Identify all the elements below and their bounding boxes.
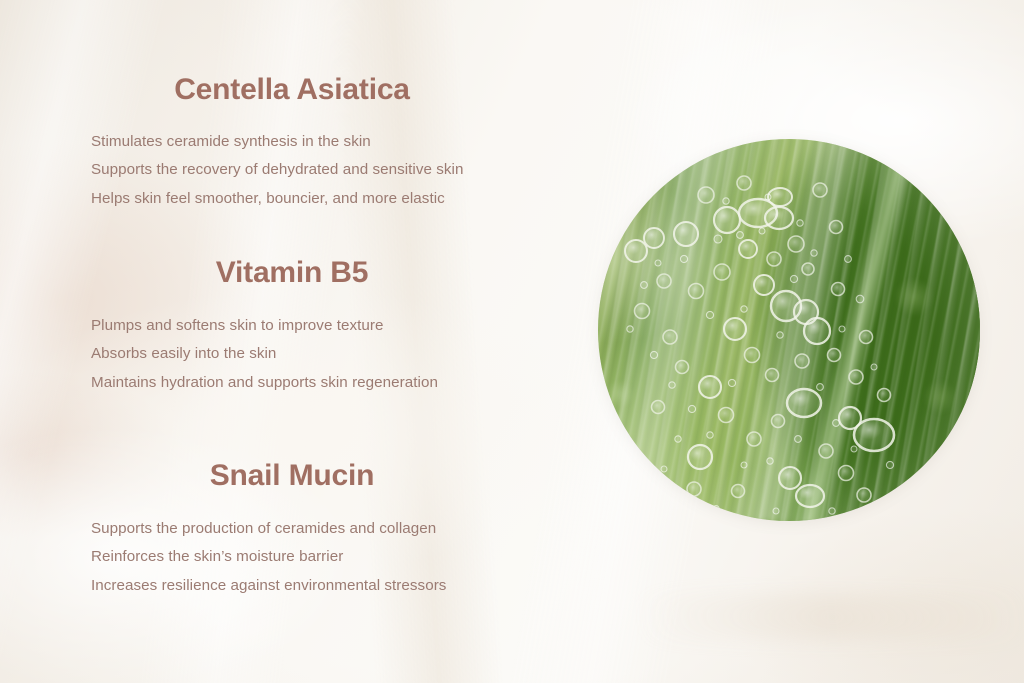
ingredient-title-text: Centella Asiatica <box>174 73 410 107</box>
background-streak <box>640 594 1024 640</box>
benefit-item: Stimulates ceramide synthesis in the ski… <box>0 128 586 157</box>
benefit-item: Absorbs easily into the skin <box>0 340 586 369</box>
ingredient-block-vitamin-b5: Vitamin B5 Plumps and softens skin to im… <box>0 256 586 397</box>
benefit-item: Supports the production of ceramides and… <box>0 515 586 544</box>
benefit-item: Helps skin feel smoother, bouncier, and … <box>0 185 586 214</box>
ingredient-benefit-list: Stimulates ceramide synthesis in the ski… <box>0 128 586 214</box>
benefit-item: Supports the recovery of dehydrated and … <box>0 156 586 185</box>
ingredient-benefit-list: Plumps and softens skin to improve textu… <box>0 312 586 398</box>
photo-soften-layer <box>598 139 980 521</box>
ingredient-block-snail-mucin: Snail Mucin Supports the production of c… <box>0 459 586 600</box>
green-leaf-with-water-bubbles-photo <box>598 139 980 521</box>
benefit-item: Plumps and softens skin to improve textu… <box>0 312 586 341</box>
ingredients-text-column: Centella Asiatica Stimulates ceramide sy… <box>0 0 586 683</box>
ingredient-block-centella-asiatica: Centella Asiatica Stimulates ceramide sy… <box>0 73 586 213</box>
ingredients-slide: Centella Asiatica Stimulates ceramide sy… <box>0 0 1024 683</box>
ingredient-title: Snail Mucin <box>0 459 586 493</box>
ingredient-title: Vitamin B5 <box>0 256 586 290</box>
ingredient-title-text: Snail Mucin <box>210 459 375 493</box>
benefit-item: Reinforces the skin’s moisture barrier <box>0 543 586 572</box>
ingredient-title-text: Vitamin B5 <box>216 256 369 290</box>
benefit-item: Increases resilience against environment… <box>0 572 586 601</box>
ingredient-benefit-list: Supports the production of ceramides and… <box>0 515 586 601</box>
photo-inner <box>598 139 980 521</box>
ingredient-title: Centella Asiatica <box>0 73 586 107</box>
benefit-item: Maintains hydration and supports skin re… <box>0 369 586 398</box>
